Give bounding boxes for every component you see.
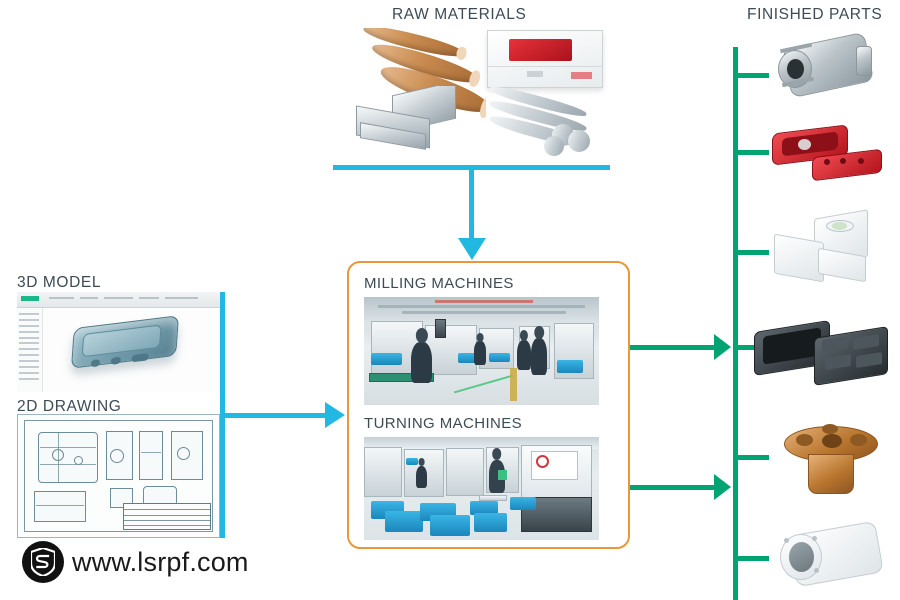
lsrpf-logo-icon [22,541,64,583]
machining-process-box: MILLING MACHINES [347,261,630,549]
drawing-2d-image [17,414,220,538]
finished-parts-tick-5 [733,455,769,460]
design-inputs-arrow-right-icon [325,402,345,428]
raw-materials-heading: RAW MATERIALS [392,6,526,24]
finished-parts-spine [733,47,738,600]
finished-parts-tick-3 [733,250,769,255]
raw-material-metal-blocks-image [352,86,472,160]
finished-part-steel-hub-image [768,32,888,110]
turning-machines-label: TURNING MACHINES [364,415,522,432]
milling-machines-image [364,297,599,405]
process-flow-diagram: RAW MATERIALS FINISHED PARTS 3D MODEL 2D… [0,0,900,600]
finished-part-white-blocks-image [768,208,888,292]
turning-output-arrow-icon [714,474,731,500]
milling-machines-label: MILLING MACHINES [364,275,514,292]
raw-materials-drop-line [469,165,474,243]
turning-output-line [630,485,725,490]
finished-parts-tick-1 [733,73,769,78]
raw-material-package-image [487,30,603,88]
model-3d-image [17,292,220,392]
finished-part-red-enclosure-image [768,125,888,187]
turning-machines-image [364,437,599,540]
finished-parts-heading: FINISHED PARTS [747,6,882,24]
finished-part-brass-flange-image [778,420,888,502]
website-url: www.lsrpf.com [72,547,249,578]
milling-output-line [630,345,725,350]
design-inputs-feed-line [220,413,340,418]
raw-material-steel-bars-image [486,86,598,160]
milling-output-arrow-icon [714,334,731,360]
finished-parts-tick-2 [733,150,769,155]
finished-part-black-enclosure-image [752,318,892,390]
raw-materials-arrow-down-icon [458,238,486,260]
finished-part-white-housing-image [772,520,890,592]
finished-parts-tick-6 [733,556,769,561]
model-3d-heading: 3D MODEL [17,274,101,292]
